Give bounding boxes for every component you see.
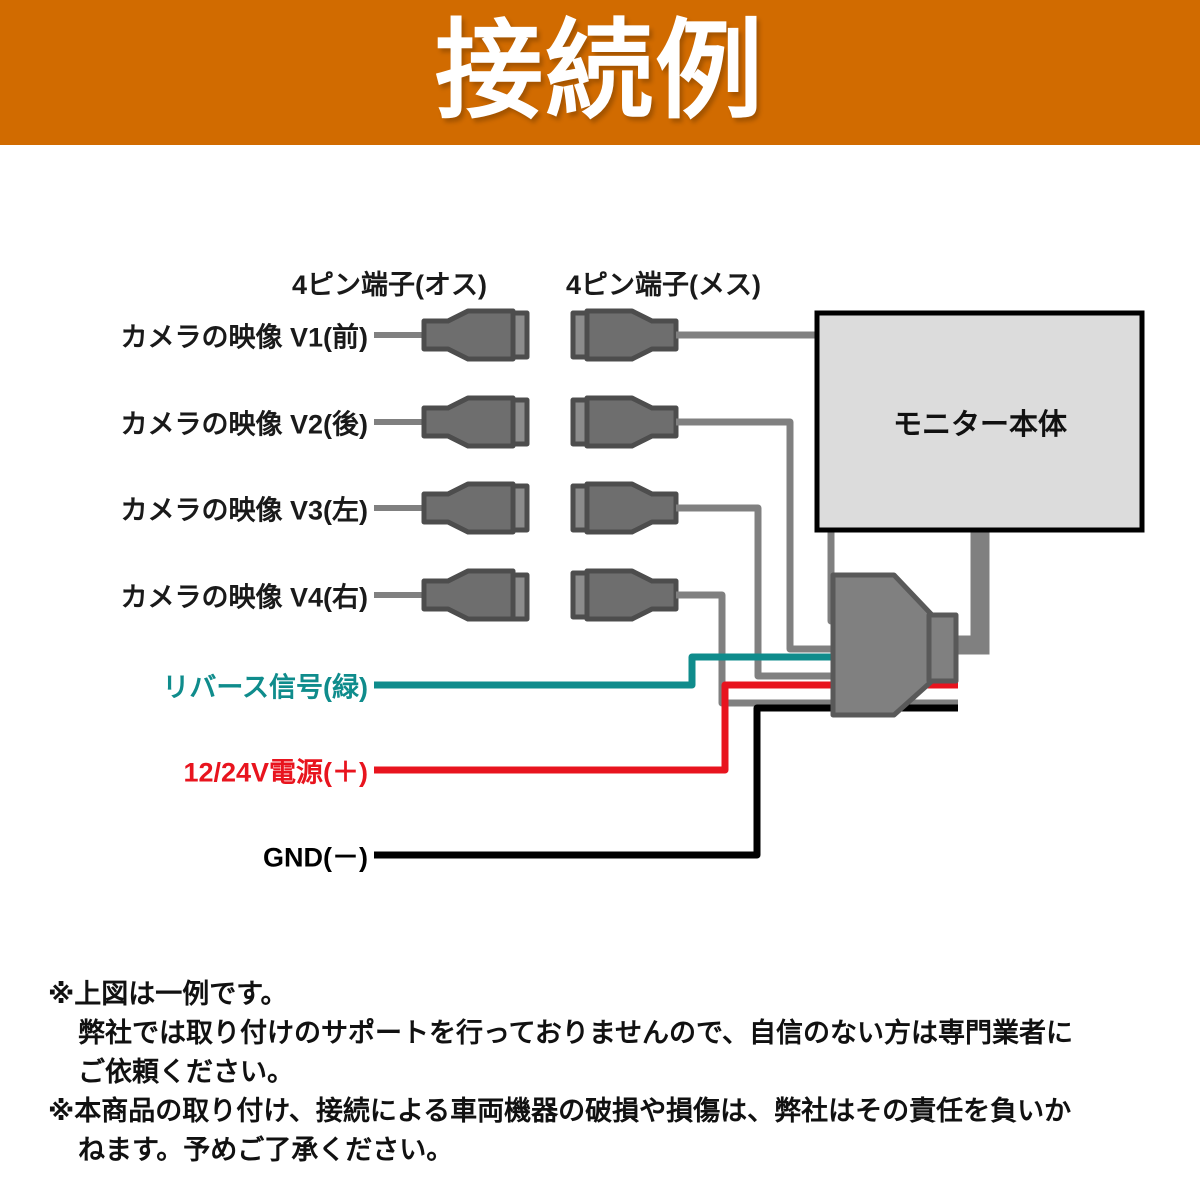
male-connector-v4: [424, 571, 527, 619]
video-wire-stubs: [374, 335, 424, 595]
female-connector-v1: [573, 311, 676, 359]
female-connector-v2: [573, 398, 676, 446]
harness-connector: [833, 575, 956, 715]
wire-gnd: [374, 708, 958, 855]
note-line: ※本商品の取り付け、接続による車両機器の破損や損傷は、弊社はその責任を負いか: [48, 1092, 1178, 1131]
male-connector-v1: [424, 311, 527, 359]
page-title: 接続例: [435, 17, 765, 125]
female-connector-v4: [573, 571, 676, 619]
row-label-reverse-signal: リバース信号(緑): [162, 666, 368, 705]
notes-section: ※上図は一例です。 弊社では取り付けのサポートを行っておりませんので、自信のない…: [48, 975, 1178, 1170]
male-connector-v2: [424, 398, 527, 446]
monitor-label: モニター本体: [893, 401, 1067, 443]
female-connectors: [573, 311, 676, 619]
male-connectors: [424, 311, 527, 619]
row-label-gnd: GND(－): [263, 836, 368, 875]
note-line: 弊社では取り付けのサポートを行っておりませんので、自信のない方は専門業者に: [48, 1014, 1178, 1053]
row-label-v1: カメラの映像 V1(前): [120, 316, 368, 355]
row-label-v2: カメラの映像 V2(後): [120, 403, 368, 442]
header-banner: 接続例: [0, 0, 1200, 145]
note-line: ご依頼ください。: [48, 1053, 1178, 1092]
note-line: ※上図は一例です。: [48, 975, 1178, 1014]
row-label-v3: カメラの映像 V3(左): [120, 489, 368, 528]
female-port-header: 4ピン端子(メス): [566, 263, 761, 302]
male-connector-v3: [424, 484, 527, 532]
note-line: ねます。予めご了承ください。: [48, 1131, 1178, 1170]
wiring-diagram: 4ピン端子(オス) 4ピン端子(メス) カメラの映像 V1(前) カメラの映像 …: [0, 145, 1200, 955]
row-label-v4: カメラの映像 V4(右): [120, 576, 368, 615]
male-port-header: 4ピン端子(オス): [292, 263, 487, 302]
row-label-power: 12/24V電源(＋): [183, 751, 368, 790]
connection-example-page: 接続例: [0, 0, 1200, 1200]
female-connector-v3: [573, 484, 676, 532]
